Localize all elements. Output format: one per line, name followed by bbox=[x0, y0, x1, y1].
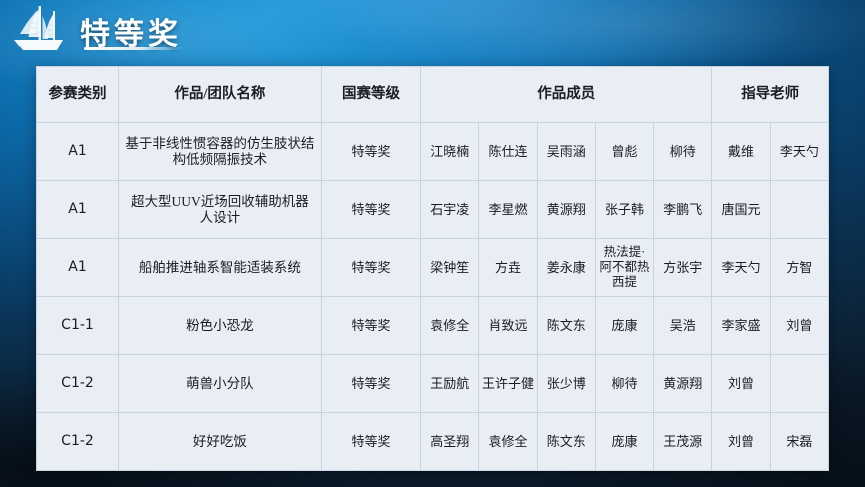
cell-national-level: 特等奖 bbox=[321, 239, 420, 297]
cell-work-name: 粉色小恐龙 bbox=[119, 297, 322, 355]
cell-member: 王茂源 bbox=[654, 413, 712, 471]
awards-table-container: 参赛类别 作品/团队名称 国赛等级 作品成员 指导老师 A1基于非线性惯容器的仿… bbox=[36, 66, 829, 470]
cell-advisor: 李家盛 bbox=[712, 297, 770, 355]
awards-table: 参赛类别 作品/团队名称 国赛等级 作品成员 指导老师 A1基于非线性惯容器的仿… bbox=[36, 66, 829, 471]
cell-member: 肖致远 bbox=[479, 297, 537, 355]
cell-member: 方张宇 bbox=[654, 239, 712, 297]
cell-national-level: 特等奖 bbox=[321, 181, 420, 239]
cell-member: 梁钟笙 bbox=[421, 239, 479, 297]
header-advisor: 指导老师 bbox=[712, 67, 829, 123]
cell-member: 吴浩 bbox=[654, 297, 712, 355]
cell-advisor: 刘曾 bbox=[770, 297, 828, 355]
cell-member: 袁修全 bbox=[479, 413, 537, 471]
cell-work-name: 好好吃饭 bbox=[119, 413, 322, 471]
cell-advisor bbox=[770, 181, 828, 239]
table-row: C1-1粉色小恐龙特等奖袁修全肖致远陈文东庞康吴浩李家盛刘曾 bbox=[37, 297, 829, 355]
cell-advisor: 李天勺 bbox=[712, 239, 770, 297]
header-national-level: 国赛等级 bbox=[321, 67, 420, 123]
cell-member: 姜永康 bbox=[537, 239, 595, 297]
cell-member: 陈仕连 bbox=[479, 123, 537, 181]
cell-advisor: 刘曾 bbox=[712, 413, 770, 471]
cell-advisor: 方智 bbox=[770, 239, 828, 297]
cell-category: C1-2 bbox=[37, 413, 119, 471]
cell-work-name: 超大型UUV近场回收辅助机器人设计 bbox=[119, 181, 322, 239]
cell-work-name: 萌兽小分队 bbox=[119, 355, 322, 413]
table-row: A1基于非线性惯容器的仿生肢状结构低频隔振技术特等奖江晓楠陈仕连吴雨涵曾彪柳待戴… bbox=[37, 123, 829, 181]
cell-advisor: 戴维 bbox=[712, 123, 770, 181]
cell-member: 热法提·阿不都热西提 bbox=[595, 239, 653, 297]
table-header-row: 参赛类别 作品/团队名称 国赛等级 作品成员 指导老师 bbox=[37, 67, 829, 123]
cell-member: 石宇凌 bbox=[421, 181, 479, 239]
cell-member: 张少博 bbox=[537, 355, 595, 413]
header-category: 参赛类别 bbox=[37, 67, 119, 123]
cell-work-name: 基于非线性惯容器的仿生肢状结构低频隔振技术 bbox=[119, 123, 322, 181]
cell-member: 吴雨涵 bbox=[537, 123, 595, 181]
title-underline bbox=[84, 47, 184, 50]
table-row: A1船舶推进轴系智能适装系统特等奖梁钟笙方垚姜永康热法提·阿不都热西提方张宇李天… bbox=[37, 239, 829, 297]
table-row: C1-2好好吃饭特等奖高圣翔袁修全陈文东庞康王茂源刘曾宋磊 bbox=[37, 413, 829, 471]
cell-work-name: 船舶推进轴系智能适装系统 bbox=[119, 239, 322, 297]
table-row: C1-2萌兽小分队特等奖王励航王许子健张少博柳待黄源翔刘曾 bbox=[37, 355, 829, 413]
cell-member: 陈文东 bbox=[537, 413, 595, 471]
cell-member: 张子韩 bbox=[595, 181, 653, 239]
cell-member: 江晓楠 bbox=[421, 123, 479, 181]
cell-category: A1 bbox=[37, 181, 119, 239]
cell-advisor: 宋磊 bbox=[770, 413, 828, 471]
cell-member: 柳待 bbox=[595, 355, 653, 413]
cell-category: C1-1 bbox=[37, 297, 119, 355]
slide-header: 特等奖 bbox=[0, 0, 865, 62]
cell-category: A1 bbox=[37, 123, 119, 181]
cell-member: 高圣翔 bbox=[421, 413, 479, 471]
cell-category: A1 bbox=[37, 239, 119, 297]
cell-national-level: 特等奖 bbox=[321, 355, 420, 413]
cell-member: 陈文东 bbox=[537, 297, 595, 355]
cell-member: 李鹏飞 bbox=[654, 181, 712, 239]
header-members: 作品成员 bbox=[421, 67, 712, 123]
table-body: A1基于非线性惯容器的仿生肢状结构低频隔振技术特等奖江晓楠陈仕连吴雨涵曾彪柳待戴… bbox=[37, 123, 829, 471]
cell-member: 庞康 bbox=[595, 297, 653, 355]
table-row: A1超大型UUV近场回收辅助机器人设计特等奖石宇凌李星燃黄源翔张子韩李鹏飞唐国元 bbox=[37, 181, 829, 239]
sailing-ship-icon bbox=[11, 4, 69, 58]
cell-advisor: 唐国元 bbox=[712, 181, 770, 239]
cell-member: 曾彪 bbox=[595, 123, 653, 181]
cell-member: 袁修全 bbox=[421, 297, 479, 355]
cell-member: 黄源翔 bbox=[537, 181, 595, 239]
cell-national-level: 特等奖 bbox=[321, 413, 420, 471]
cell-national-level: 特等奖 bbox=[321, 123, 420, 181]
cell-category: C1-2 bbox=[37, 355, 119, 413]
cell-member: 方垚 bbox=[479, 239, 537, 297]
cell-member: 柳待 bbox=[654, 123, 712, 181]
cell-member: 李星燃 bbox=[479, 181, 537, 239]
cell-advisor: 刘曾 bbox=[712, 355, 770, 413]
cell-member: 庞康 bbox=[595, 413, 653, 471]
cell-advisor bbox=[770, 355, 828, 413]
header-work-name: 作品/团队名称 bbox=[119, 67, 322, 123]
cell-member: 王许子健 bbox=[479, 355, 537, 413]
cell-national-level: 特等奖 bbox=[321, 297, 420, 355]
cell-member: 黄源翔 bbox=[654, 355, 712, 413]
cell-advisor: 李天勺 bbox=[770, 123, 828, 181]
cell-member: 王励航 bbox=[421, 355, 479, 413]
